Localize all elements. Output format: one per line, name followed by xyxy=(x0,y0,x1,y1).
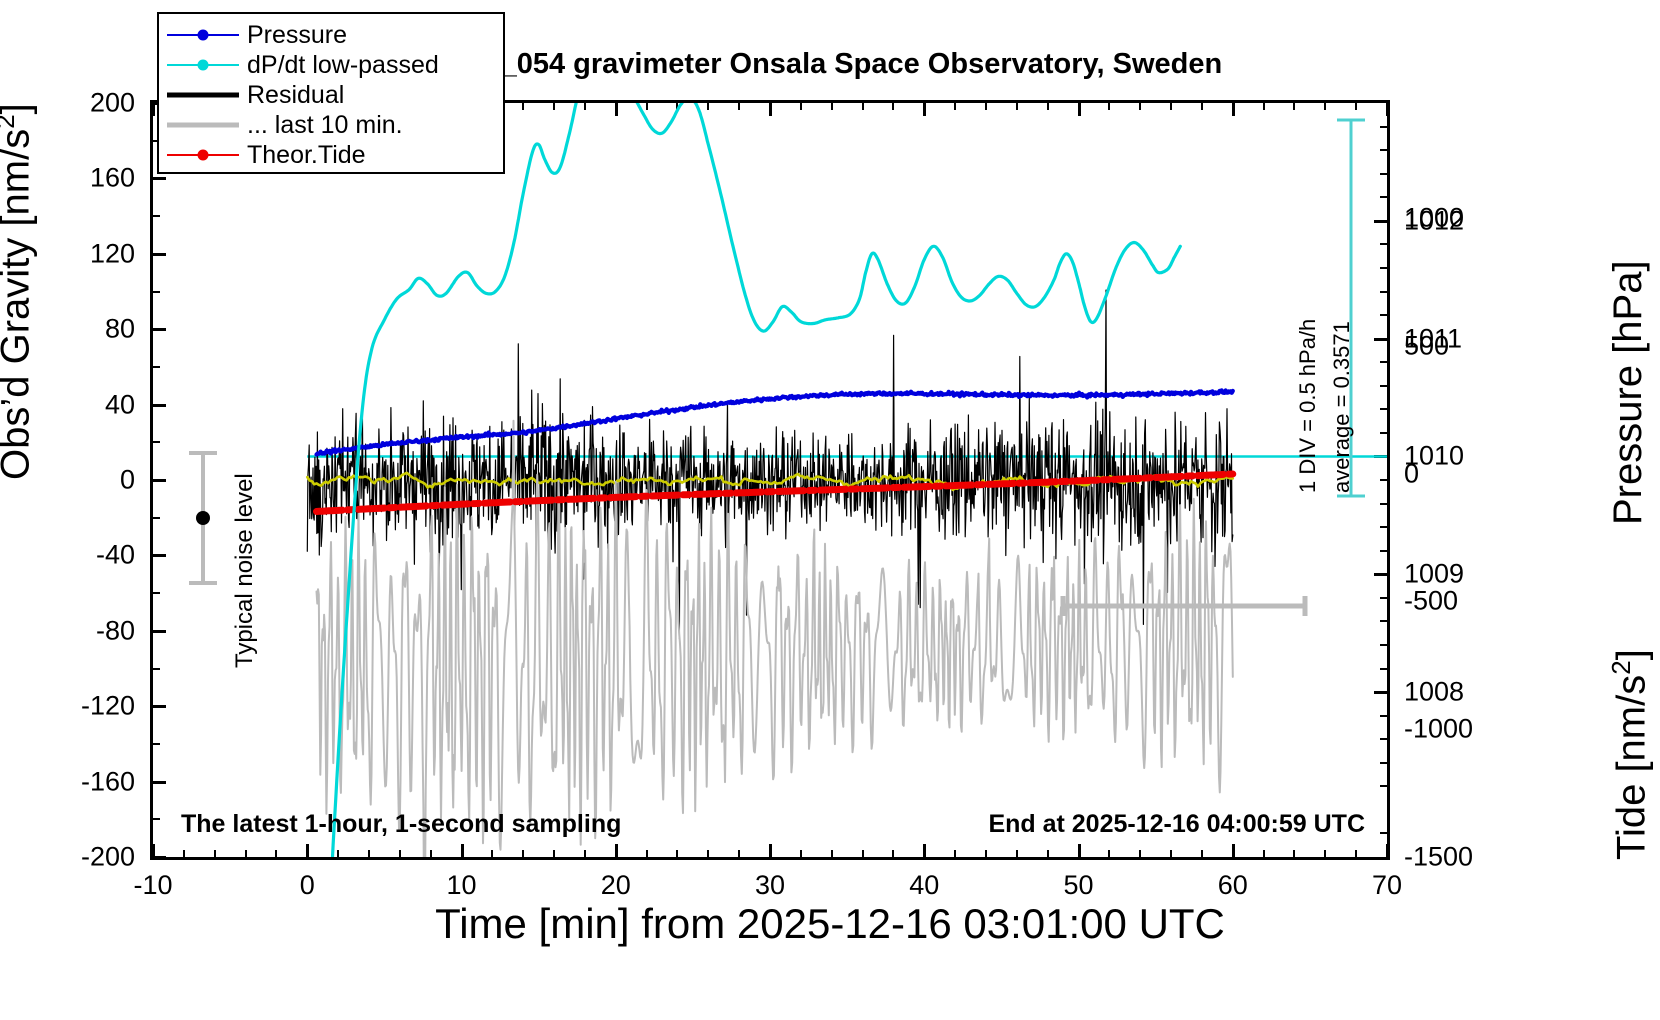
legend-line xyxy=(167,123,239,128)
tide-tick-label: 500 xyxy=(1404,330,1449,361)
y-axis-tick-label: 40 xyxy=(10,389,135,420)
x-axis-tick-label: -10 xyxy=(133,870,172,901)
legend-item[interactable]: Theor.Tide xyxy=(159,140,503,170)
note-end-time: End at 2025-12-16 04:00:59 UTC xyxy=(988,810,1365,839)
y-axis-title-pressure: Pressure [hPa] xyxy=(1606,260,1651,525)
chart-page: SCG_054 gravimeter Onsala Space Observat… xyxy=(0,0,1660,1020)
legend: PressuredP/dt low-passedResidual... last… xyxy=(157,12,505,174)
y-axis-tick-label: 0 xyxy=(10,465,135,496)
tide-tick-label: -1500 xyxy=(1404,842,1473,873)
legend-marker-dot xyxy=(198,30,209,41)
legend-item[interactable]: ... last 10 min. xyxy=(159,110,503,140)
x-axis-tick-label: 0 xyxy=(300,870,315,901)
x-axis-tick-label: 50 xyxy=(1063,870,1093,901)
legend-label: ... last 10 min. xyxy=(247,111,403,140)
legend-label: dP/dt low-passed xyxy=(247,51,439,80)
legend-item[interactable]: Pressure xyxy=(159,20,503,50)
y-axis-tick-label: -40 xyxy=(10,540,135,571)
legend-swatch xyxy=(159,140,247,170)
x-axis-tick-label: 20 xyxy=(601,870,631,901)
y-axis-title-tide: Tide [nm/s2] xyxy=(1606,649,1654,860)
legend-swatch xyxy=(159,110,247,140)
x-axis-tick-label: 70 xyxy=(1372,870,1402,901)
legend-item[interactable]: Residual xyxy=(159,80,503,110)
plot-area: The latest 1-hour, 1-second sampling End… xyxy=(150,100,1390,860)
y-axis-tick-label: -80 xyxy=(10,615,135,646)
y-axis-tick-label: 80 xyxy=(10,314,135,345)
note-sampling: The latest 1-hour, 1-second sampling xyxy=(181,810,621,839)
tide-tick-label: -500 xyxy=(1404,586,1458,617)
legend-line xyxy=(167,93,239,98)
y-axis-tick-label: -200 xyxy=(10,842,135,873)
y-axis-tick-label: 160 xyxy=(10,163,135,194)
tide-tick-label: -1000 xyxy=(1404,714,1473,745)
x-axis-tick-label: 10 xyxy=(446,870,476,901)
x-axis-title: Time [min] from 2025-12-16 03:01:00 UTC xyxy=(0,900,1660,948)
x-axis-tick-label: 60 xyxy=(1218,870,1248,901)
legend-label: Pressure xyxy=(247,21,347,50)
y-axis-title-left: Obs’d Gravity [nm/s2] xyxy=(0,103,38,480)
note-average: average = 0.3571 xyxy=(1329,321,1355,493)
y-axis-tick-label: -160 xyxy=(10,766,135,797)
legend-swatch xyxy=(159,20,247,50)
legend-swatch xyxy=(159,50,247,80)
note-div-scale: 1 DIV = 0.5 hPa/h xyxy=(1295,319,1321,493)
legend-marker-dot xyxy=(198,60,209,71)
legend-item[interactable]: dP/dt low-passed xyxy=(159,50,503,80)
legend-swatch xyxy=(159,80,247,110)
noise-level-errorbar xyxy=(183,448,223,588)
series-canvas xyxy=(153,103,1387,857)
legend-marker-dot xyxy=(198,150,209,161)
y-axis-tick-label: 200 xyxy=(10,88,135,119)
plot-clip xyxy=(153,103,1387,857)
pressure-tick-label: 1008 xyxy=(1404,677,1464,708)
last-10-min-span-marker xyxy=(1059,593,1309,619)
legend-label: Residual xyxy=(247,81,344,110)
x-axis-tick-label: 40 xyxy=(909,870,939,901)
x-axis-tick-label: 30 xyxy=(755,870,785,901)
y-axis-tick-label: -120 xyxy=(10,691,135,722)
tide-tick-label: 1000 xyxy=(1404,203,1464,234)
tide-tick-label: 0 xyxy=(1404,458,1419,489)
legend-label: Theor.Tide xyxy=(247,141,366,170)
y-axis-tick-label: 120 xyxy=(10,238,135,269)
note-noise-level: Typical noise level xyxy=(231,473,259,668)
